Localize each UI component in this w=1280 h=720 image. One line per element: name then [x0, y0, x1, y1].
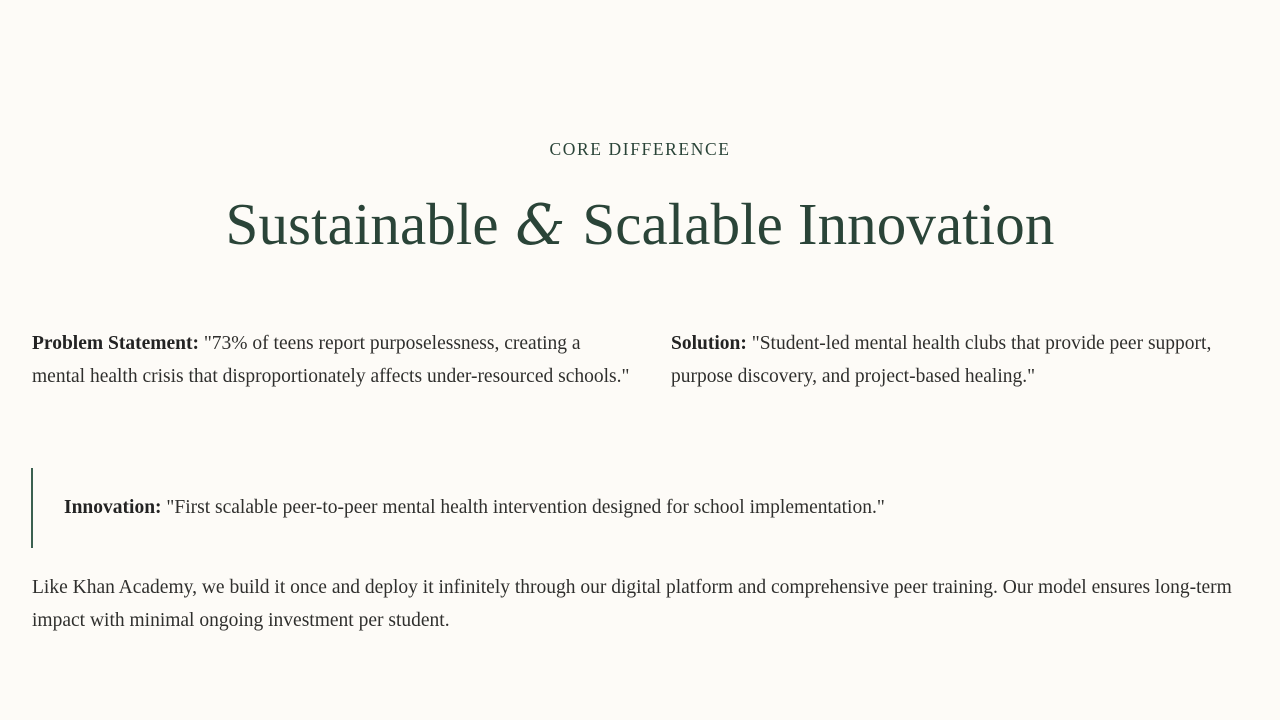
slide-root: CORE DIFFERENCE Sustainable & Scalable I…	[0, 0, 1280, 720]
headline-part-2: Scalable Innovation	[582, 191, 1054, 257]
two-column-block: Problem Statement: "73% of teens report …	[32, 328, 1248, 394]
problem-statement-column: Problem Statement: "73% of teens report …	[32, 328, 632, 394]
solution-column: Solution: "Student-led mental health clu…	[671, 328, 1248, 394]
solution-text: "Student-led mental health clubs that pr…	[671, 333, 1211, 387]
ampersand-glyph: &	[514, 193, 568, 258]
innovation-label: Innovation:	[64, 497, 162, 518]
headline-part-1: Sustainable	[226, 191, 499, 257]
page-title: Sustainable & Scalable Innovation	[0, 192, 1280, 257]
innovation-text: "First scalable peer-to-peer mental heal…	[162, 497, 885, 518]
solution-label: Solution:	[671, 333, 747, 354]
eyebrow-label: CORE DIFFERENCE	[0, 139, 1280, 160]
problem-statement-label: Problem Statement:	[32, 333, 199, 354]
closing-paragraph: Like Khan Academy, we build it once and …	[32, 572, 1248, 638]
innovation-callout: Innovation: "First scalable peer-to-peer…	[31, 468, 1181, 548]
innovation-callout-text: Innovation: "First scalable peer-to-peer…	[33, 493, 885, 522]
